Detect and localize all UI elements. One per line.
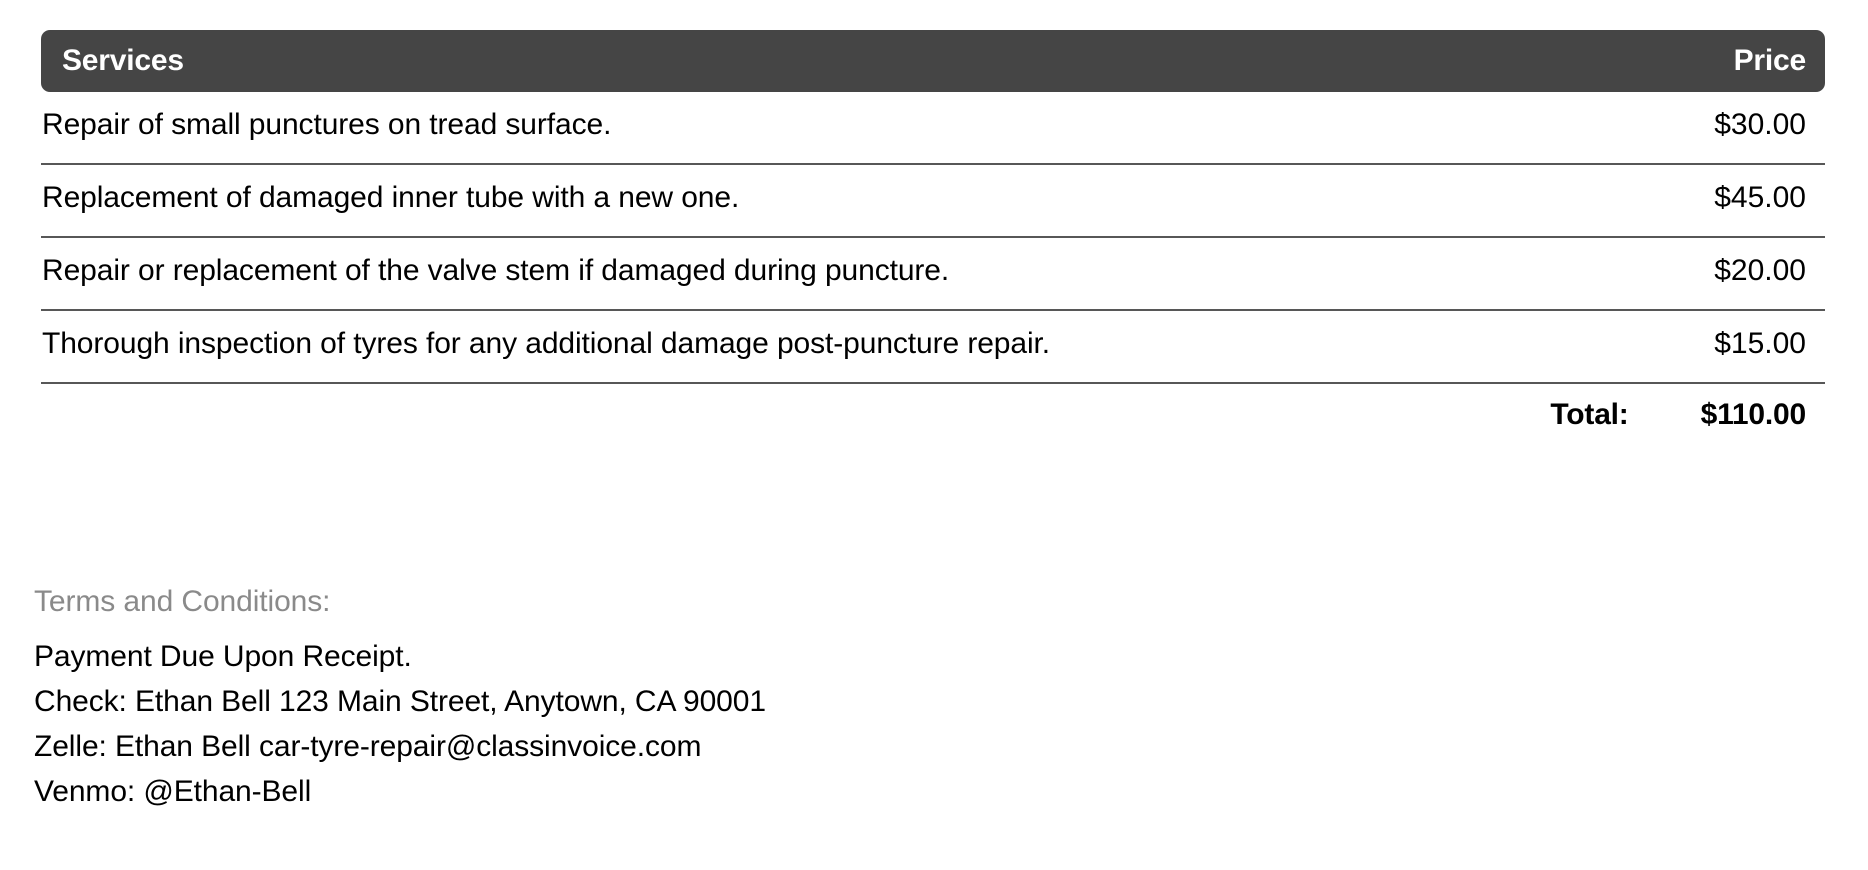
invoice-page: Services Price Repair of small punctures… [0,0,1868,870]
service-price: $15.00 [1714,326,1806,362]
terms-line-zelle: Zelle: Ethan Bell car-tyre-repair@classi… [34,724,1834,769]
table-row: Repair or replacement of the valve stem … [41,238,1825,311]
terms-title: Terms and Conditions: [34,585,1834,618]
total-label: Total: [1550,398,1628,432]
service-description: Repair of small punctures on tread surfa… [41,107,611,143]
column-header-price: Price [1734,46,1806,76]
terms-line-venmo: Venmo: @Ethan-Bell [34,769,1834,814]
terms-line-payment: Payment Due Upon Receipt. [34,634,1834,679]
terms-and-conditions-section: Terms and Conditions: Payment Due Upon R… [34,585,1834,814]
service-description: Replacement of damaged inner tube with a… [41,180,739,216]
table-row: Repair of small punctures on tread surfa… [41,92,1825,165]
table-header-row: Services Price [41,30,1825,92]
total-row: Total: $110.00 [41,384,1825,446]
services-table: Services Price Repair of small punctures… [41,30,1825,446]
service-description: Thorough inspection of tyres for any add… [41,326,1050,362]
terms-line-check: Check: Ethan Bell 123 Main Street, Anyto… [34,679,1834,724]
service-price: $30.00 [1714,107,1806,143]
total-value: $110.00 [1701,398,1806,432]
column-header-services: Services [62,46,184,76]
service-price: $20.00 [1714,253,1806,289]
table-row: Replacement of damaged inner tube with a… [41,165,1825,238]
service-price: $45.00 [1714,180,1806,216]
table-row: Thorough inspection of tyres for any add… [41,311,1825,384]
service-description: Repair or replacement of the valve stem … [41,253,949,289]
